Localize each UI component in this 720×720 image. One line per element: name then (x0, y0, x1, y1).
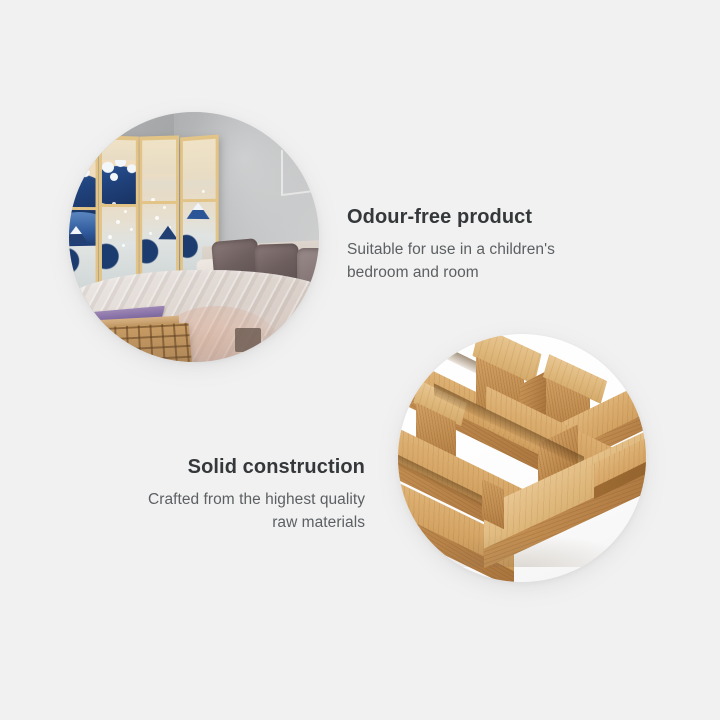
great-wave-artwork-3 (142, 140, 176, 284)
solid-construction-description: Crafted from the highest quality raw mat… (85, 489, 365, 534)
odour-free-description-line-2: bedroom and room (347, 264, 479, 281)
great-wave-artwork-1 (69, 139, 96, 296)
solid-construction-description-line-1: Crafted from the highest quality (148, 491, 365, 508)
infographic-canvas: Odour-free product Suitable for use in a… (0, 0, 720, 720)
odour-free-description-line-1: Suitable for use in a children's (347, 241, 555, 258)
timber-image-medallion (398, 334, 646, 582)
screen-panel-3 (139, 135, 179, 286)
solid-construction-title: Solid construction (85, 455, 365, 480)
screen-panel-1 (69, 135, 98, 299)
odour-free-text-block: Odour-free product Suitable for use in a… (347, 205, 627, 284)
wall-corner-trim (281, 146, 315, 196)
solid-construction-description-line-2: raw materials (272, 514, 365, 531)
odour-free-title: Odour-free product (347, 205, 627, 230)
timber-floor-shadow (413, 533, 636, 567)
great-wave-artwork-2 (102, 140, 136, 290)
bedroom-image-medallion (69, 112, 319, 362)
timber-scene (398, 334, 646, 582)
solid-construction-text-block: Solid construction Crafted from the high… (85, 455, 365, 534)
bedroom-floor-shadow (69, 328, 319, 362)
screen-panel-2 (99, 135, 139, 292)
bedroom-scene (69, 112, 319, 362)
odour-free-description: Suitable for use in a children's bedroom… (347, 239, 627, 284)
